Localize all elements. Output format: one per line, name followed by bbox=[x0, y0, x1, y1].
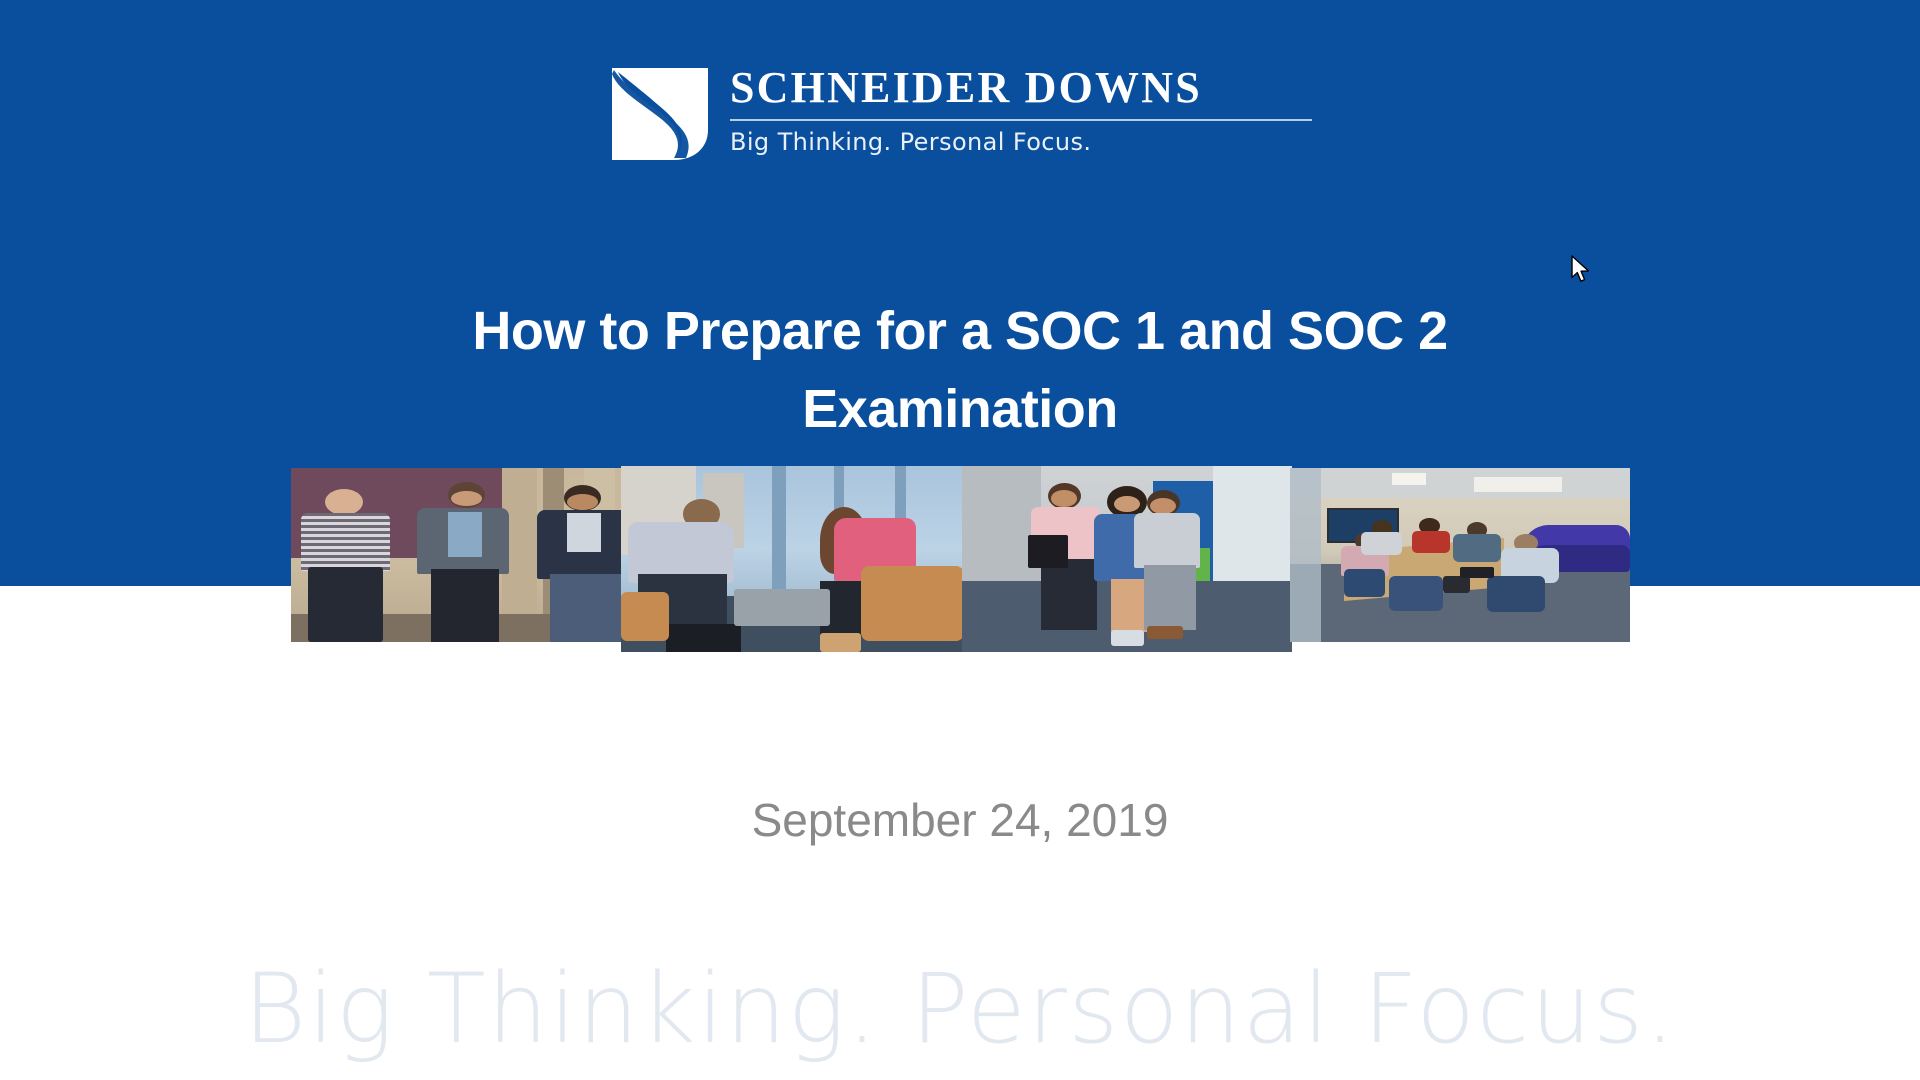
slide-title-line-1: How to Prepare for a SOC 1 and SOC 2 bbox=[472, 301, 1447, 361]
schneider-downs-s-monogram-icon bbox=[612, 68, 708, 160]
conference-room-meeting-photo bbox=[1290, 468, 1630, 642]
slide-title-line-2: Examination bbox=[802, 379, 1118, 439]
schneider-downs-logo: SCHNEIDER DOWNS Big Thinking. Personal F… bbox=[612, 62, 1312, 162]
three-men-walking-hallway-photo bbox=[291, 468, 632, 642]
logo-wordmark: SCHNEIDER DOWNS bbox=[730, 64, 1312, 112]
logo-divider-rule bbox=[730, 119, 1312, 121]
logo-tagline: Big Thinking. Personal Focus. bbox=[730, 127, 1312, 157]
slide-date: September 24, 2019 bbox=[0, 792, 1920, 848]
photo-strip bbox=[291, 466, 1630, 686]
logo-text-block: SCHNEIDER DOWNS Big Thinking. Personal F… bbox=[730, 62, 1312, 157]
three-people-walking-corridor-photo bbox=[962, 466, 1292, 652]
two-people-seated-by-windows-photo bbox=[621, 466, 964, 652]
presentation-slide: SCHNEIDER DOWNS Big Thinking. Personal F… bbox=[0, 0, 1920, 1080]
slide-title: How to Prepare for a SOC 1 and SOC 2 Exa… bbox=[260, 292, 1660, 448]
slide-watermark-tagline: Big Thinking. Personal Focus. bbox=[0, 954, 1920, 1064]
